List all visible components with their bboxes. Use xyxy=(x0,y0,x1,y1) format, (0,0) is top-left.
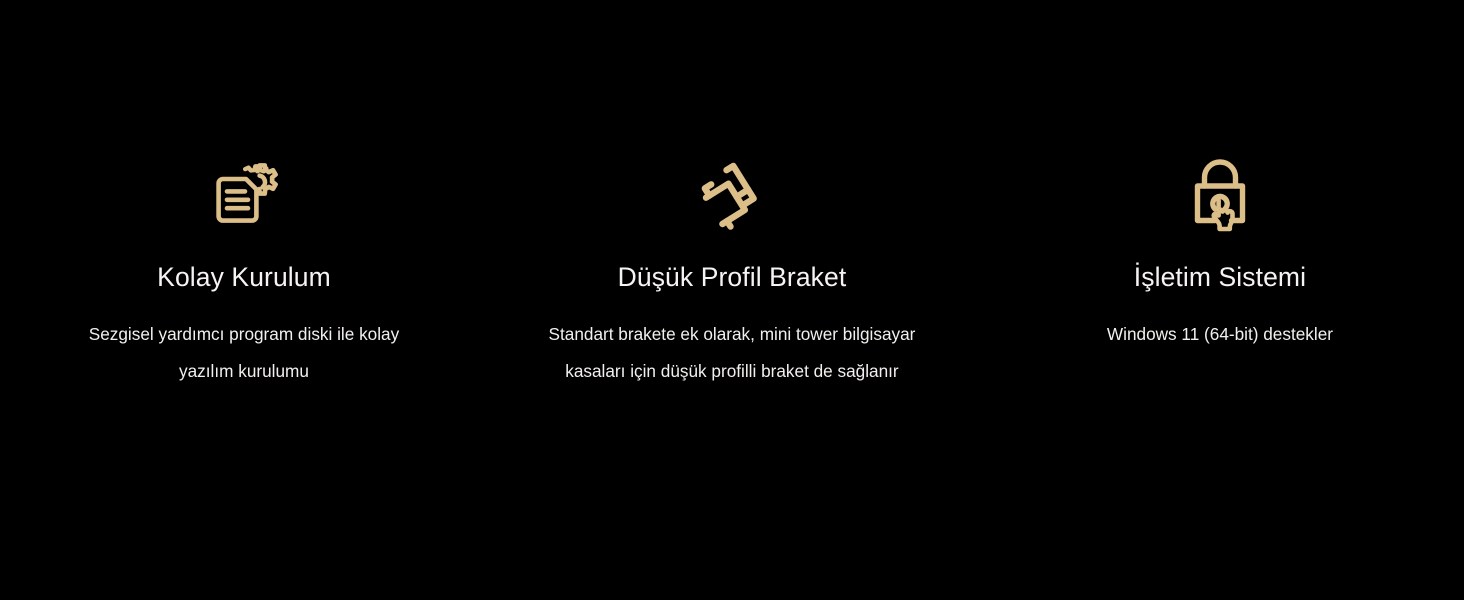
feature-title: Kolay Kurulum xyxy=(157,260,331,294)
feature-title: İşletim Sistemi xyxy=(1134,260,1306,294)
document-gear-icon xyxy=(201,152,287,238)
lock-cursor-icon xyxy=(1177,152,1263,238)
feature-card-dusuk-profil-braket: Düşük Profil Braket Standart brakete ek … xyxy=(488,152,976,389)
feature-description: Windows 11 (64-bit) destekler xyxy=(1107,316,1333,353)
feature-description: Sezgisel yardımcı program diski ile kola… xyxy=(79,316,409,389)
feature-highlights-section: Kolay Kurulum Sezgisel yardımcı program … xyxy=(0,0,1464,600)
low-profile-bracket-icon xyxy=(689,152,775,238)
feature-title: Düşük Profil Braket xyxy=(618,260,847,294)
feature-card-isletim-sistemi: İşletim Sistemi Windows 11 (64-bit) dest… xyxy=(976,152,1464,353)
feature-card-kolay-kurulum: Kolay Kurulum Sezgisel yardımcı program … xyxy=(0,152,488,389)
feature-description: Standart brakete ek olarak, mini tower b… xyxy=(546,316,918,389)
